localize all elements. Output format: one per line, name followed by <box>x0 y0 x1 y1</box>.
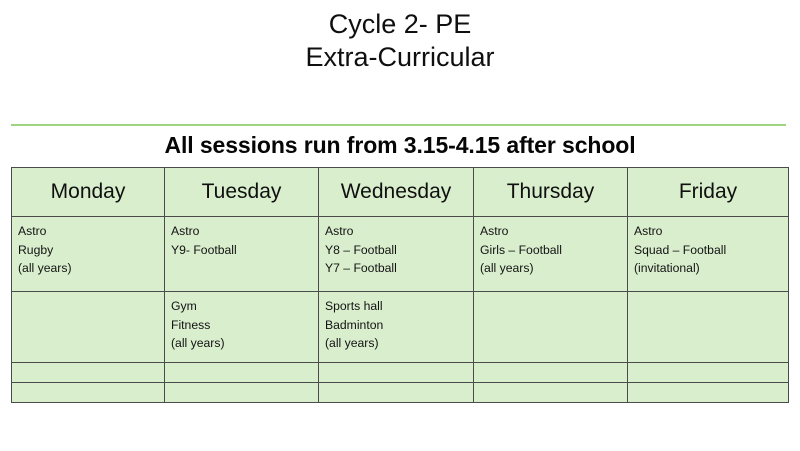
activity-block <box>12 292 164 301</box>
column-header-wednesday: Wednesday <box>319 168 474 217</box>
activity-block: Sports hall Badminton (all years) <box>319 292 473 357</box>
cell-thursday-2 <box>474 292 628 363</box>
cell-monday-3 <box>12 363 165 383</box>
activity-line: (all years) <box>325 334 473 353</box>
cell-wednesday-4 <box>319 383 474 403</box>
activity-block <box>474 292 627 301</box>
cell-wednesday-3 <box>319 363 474 383</box>
activity-line: (all years) <box>171 334 318 353</box>
cell-wednesday-1: Astro Y8 – Football Y7 – Football <box>319 217 474 292</box>
activity-line: Rugby <box>18 241 164 260</box>
activity-block: Astro Girls – Football (all years) <box>474 217 627 282</box>
column-header-friday: Friday <box>628 168 789 217</box>
page-title-line-2: Extra-Curricular <box>0 41 800 74</box>
cell-thursday-1: Astro Girls – Football (all years) <box>474 217 628 292</box>
activity-block: Gym Fitness (all years) <box>165 292 318 357</box>
table-header-row: Monday Tuesday Wednesday Thursday Friday <box>12 168 789 217</box>
activity-block: Astro Y9- Football <box>165 217 318 263</box>
cell-monday-4 <box>12 383 165 403</box>
activity-line: Girls – Football <box>480 241 627 260</box>
activity-line: (invitational) <box>634 259 788 278</box>
extra-curricular-schedule-table: Monday Tuesday Wednesday Thursday Friday… <box>11 167 789 403</box>
cell-friday-1: Astro Squad – Football (invitational) <box>628 217 789 292</box>
green-divider-rule <box>11 124 786 126</box>
activity-line: Y8 – Football <box>325 241 473 260</box>
activity-block <box>628 292 788 301</box>
activity-line: Astro <box>171 222 318 241</box>
activity-line: Fitness <box>171 316 318 335</box>
activity-line: Sports hall <box>325 297 473 316</box>
cell-friday-3 <box>628 363 789 383</box>
session-times-subtitle: All sessions run from 3.15-4.15 after sc… <box>0 132 800 159</box>
cell-tuesday-4 <box>165 383 319 403</box>
activity-line: Astro <box>18 222 164 241</box>
activity-block: Astro Squad – Football (invitational) <box>628 217 788 282</box>
table-row: Astro Rugby (all years) Astro Y9- Footba… <box>12 217 789 292</box>
activity-block: Astro Y8 – Football Y7 – Football <box>319 217 473 282</box>
cell-tuesday-1: Astro Y9- Football <box>165 217 319 292</box>
cell-thursday-4 <box>474 383 628 403</box>
cell-monday-2 <box>12 292 165 363</box>
activity-line: Astro <box>325 222 473 241</box>
cell-tuesday-2: Gym Fitness (all years) <box>165 292 319 363</box>
column-header-thursday: Thursday <box>474 168 628 217</box>
cell-thursday-3 <box>474 363 628 383</box>
table-row: Gym Fitness (all years) Sports hall Badm… <box>12 292 789 363</box>
page-title: Cycle 2- PE Extra-Curricular <box>0 8 800 75</box>
column-header-tuesday: Tuesday <box>165 168 319 217</box>
table-row <box>12 363 789 383</box>
cell-friday-4 <box>628 383 789 403</box>
activity-line: Badminton <box>325 316 473 335</box>
activity-line: Astro <box>634 222 788 241</box>
activity-line: Astro <box>480 222 627 241</box>
activity-line: Y7 – Football <box>325 259 473 278</box>
activity-block: Astro Rugby (all years) <box>12 217 164 282</box>
cell-wednesday-2: Sports hall Badminton (all years) <box>319 292 474 363</box>
slide-canvas: Cycle 2- PE Extra-Curricular All session… <box>0 0 800 451</box>
column-header-monday: Monday <box>12 168 165 217</box>
page-title-line-1: Cycle 2- PE <box>0 8 800 41</box>
table-row <box>12 383 789 403</box>
activity-line: (all years) <box>480 259 627 278</box>
cell-monday-1: Astro Rugby (all years) <box>12 217 165 292</box>
activity-line: Gym <box>171 297 318 316</box>
cell-tuesday-3 <box>165 363 319 383</box>
activity-line: Squad – Football <box>634 241 788 260</box>
cell-friday-2 <box>628 292 789 363</box>
activity-line: (all years) <box>18 259 164 278</box>
activity-line: Y9- Football <box>171 241 318 260</box>
